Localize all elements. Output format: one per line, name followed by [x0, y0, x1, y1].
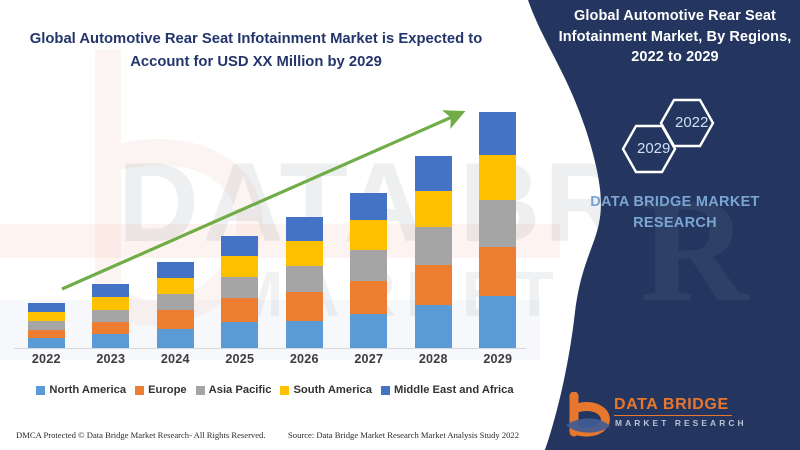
brand-logo-underline: [614, 415, 732, 416]
bar-column: [208, 100, 273, 348]
bar-segment: [157, 310, 194, 328]
bar-column: [272, 100, 337, 348]
bar-segment: [92, 310, 129, 322]
bar-segment: [350, 281, 387, 313]
bar-segment: [286, 241, 323, 266]
bar-segment: [92, 322, 129, 334]
legend-label: Middle East and Africa: [394, 384, 514, 396]
footer-source: Source: Data Bridge Market Research Mark…: [288, 430, 519, 440]
stacked-bar: [221, 236, 258, 348]
legend-label: Europe: [148, 384, 187, 396]
legend-swatch: [196, 386, 205, 395]
bar-segment: [350, 250, 387, 281]
x-axis-label: 2029: [466, 352, 531, 366]
bar-segment: [157, 294, 194, 310]
x-axis-label: 2022: [14, 352, 79, 366]
bar-segment: [28, 321, 65, 330]
bar-segment: [415, 227, 452, 265]
bar-segment: [286, 321, 323, 348]
page-title: Global Automotive Rear Seat Infotainment…: [22, 28, 490, 74]
x-axis-label: 2024: [143, 352, 208, 366]
footer-copyright: DMCA Protected © Data Bridge Market Rese…: [16, 430, 266, 440]
panel-title: Global Automotive Rear Seat Infotainment…: [556, 6, 794, 68]
bar-segment: [221, 322, 258, 348]
brand-logo-subtitle: MARKET RESEARCH: [615, 418, 747, 428]
bar-segment: [157, 329, 194, 348]
legend-item[interactable]: North America: [36, 384, 126, 396]
legend-swatch: [36, 386, 45, 395]
bar-segment: [479, 155, 516, 200]
bar-segment: [415, 305, 452, 348]
hex-2029-label: 2029: [637, 140, 670, 157]
x-axis-label: 2028: [401, 352, 466, 366]
bar-segment: [221, 298, 258, 322]
stacked-bar: [92, 284, 129, 348]
stacked-bar-chart: [14, 100, 530, 348]
x-axis-labels: 20222023202420252026202720282029: [14, 352, 530, 366]
bar-segment: [221, 236, 258, 256]
bar-column: [143, 100, 208, 348]
chart-legend: North AmericaEuropeAsia PacificSouth Ame…: [16, 384, 534, 396]
brand-logo-title: DATA BRIDGE: [614, 396, 729, 414]
bar-segment: [350, 314, 387, 348]
bar-segment: [415, 265, 452, 305]
bar-segment: [415, 156, 452, 190]
brand-logo: DATA BRIDGE MARKET RESEARCH: [560, 392, 790, 440]
stacked-bar: [350, 193, 387, 348]
chart-axis-line: [14, 348, 526, 349]
x-axis-label: 2027: [337, 352, 402, 366]
bar-segment: [157, 262, 194, 278]
stacked-bar: [286, 217, 323, 348]
legend-item[interactable]: Middle East and Africa: [381, 384, 514, 396]
bar-segment: [350, 220, 387, 250]
bar-segment: [286, 217, 323, 242]
hexagon-group: 2022 2029: [596, 96, 746, 186]
legend-swatch: [381, 386, 390, 395]
legend-label: Asia Pacific: [209, 384, 272, 396]
bar-segment: [28, 338, 65, 348]
bar-segment: [92, 334, 129, 348]
stacked-bar: [28, 303, 65, 348]
x-axis-label: 2023: [79, 352, 144, 366]
legend-label: South America: [293, 384, 372, 396]
bar-segment: [157, 278, 194, 294]
bar-column: [401, 100, 466, 348]
bar-segment: [479, 247, 516, 297]
hex-2022-label: 2022: [675, 114, 708, 131]
bar-column: [14, 100, 79, 348]
bar-segment: [479, 296, 516, 348]
bar-column: [79, 100, 144, 348]
bar-column: [466, 100, 531, 348]
bar-segment: [286, 266, 323, 292]
bar-segment: [92, 297, 129, 310]
legend-swatch: [135, 386, 144, 395]
infographic-root: DATA BRI MARKET R Global Automotive Rear…: [0, 0, 800, 450]
bar-segment: [28, 330, 65, 339]
bar-segment: [479, 200, 516, 246]
x-axis-label: 2026: [272, 352, 337, 366]
legend-item[interactable]: Europe: [135, 384, 187, 396]
legend-swatch: [280, 386, 289, 395]
bar-segment: [286, 292, 323, 321]
legend-item[interactable]: South America: [280, 384, 372, 396]
x-axis-label: 2025: [208, 352, 273, 366]
stacked-bar: [479, 112, 516, 348]
stacked-bar: [415, 156, 452, 348]
bar-segment: [350, 193, 387, 220]
bar-segment: [28, 303, 65, 313]
bar-segment: [415, 191, 452, 228]
legend-label: North America: [49, 384, 126, 396]
bar-segment: [221, 277, 258, 299]
stacked-bar: [157, 262, 194, 348]
bar-segment: [92, 284, 129, 297]
bar-segment: [479, 112, 516, 155]
legend-item[interactable]: Asia Pacific: [196, 384, 272, 396]
panel-brand-line: DATA BRIDGE MARKET RESEARCH: [570, 192, 780, 234]
bar-segment: [221, 256, 258, 276]
bar-column: [337, 100, 402, 348]
bar-segment: [28, 312, 65, 321]
